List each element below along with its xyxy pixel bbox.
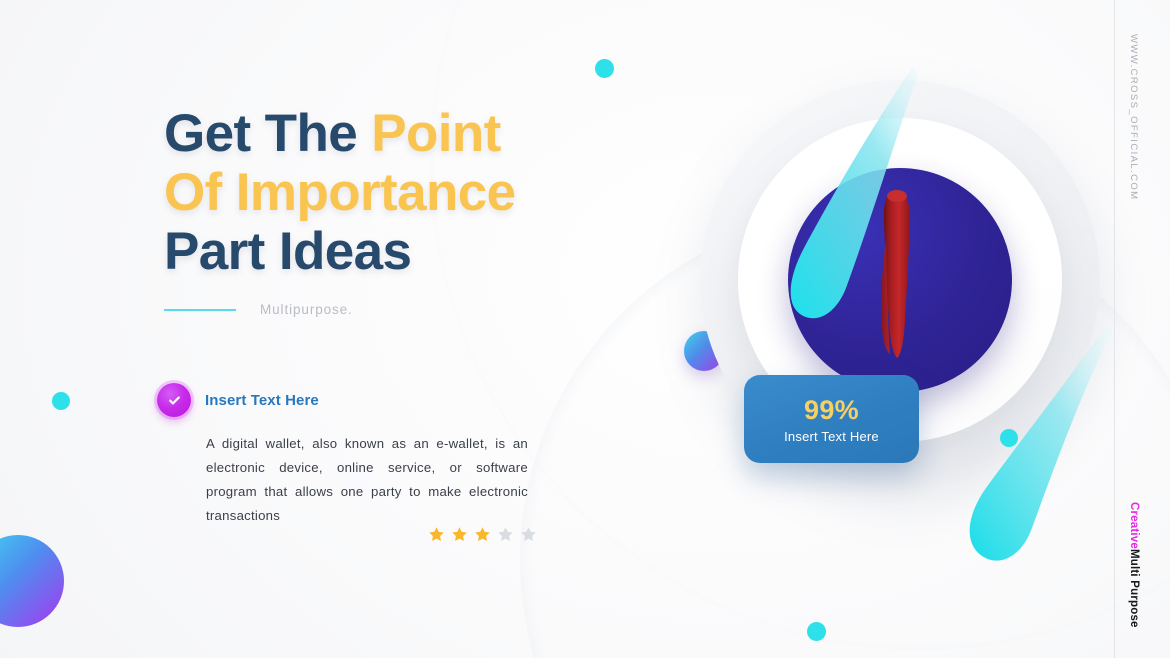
brand-label-accent: Creative <box>1128 502 1140 549</box>
brand-label-rest: Multi Purpose <box>1128 549 1140 628</box>
decor-dot-cyan-left <box>52 392 70 410</box>
website-url: WWW.CROSS_OFFICIAL.COM <box>1128 34 1139 200</box>
decor-dot-cyan-hero <box>1000 429 1018 447</box>
page-title: Get The Point Of Importance Part Ideas <box>164 104 724 281</box>
decor-circle-gradient-bottom-left <box>0 535 64 627</box>
presentation-slide: Get The Point Of Importance Part Ideas M… <box>0 0 1170 658</box>
decor-dot-cyan-top <box>595 59 614 78</box>
star-icon-5 <box>520 526 537 543</box>
star-icon-2 <box>451 526 468 543</box>
feature-title: Insert Text Here <box>205 392 319 409</box>
star-icon-4 <box>497 526 514 543</box>
feature-heading: Insert Text Here <box>157 383 319 417</box>
star-icon-3 <box>474 526 491 543</box>
headline-part-dark-1: Get The <box>164 104 371 163</box>
rail-divider <box>1114 0 1115 658</box>
subtitle-rule <box>164 309 236 311</box>
status-badge <box>428 526 537 543</box>
stat-card-percent: 99% <box>804 395 859 426</box>
headline-line-3: Part Ideas <box>164 222 724 281</box>
headline-line-1: Get The Point <box>164 104 724 163</box>
headline-line-2: Of Importance <box>164 163 724 222</box>
feature-body-text: A digital wallet, also known as an e-wal… <box>206 432 528 528</box>
stat-card-label: Insert Text Here <box>784 429 879 444</box>
brand-label: CreativeMulti Purpose <box>1128 502 1140 628</box>
decor-dot-cyan-bottom <box>807 622 826 641</box>
subtitle-row: Multipurpose. <box>164 302 353 317</box>
subtitle-text: Multipurpose. <box>260 302 353 317</box>
red-3d-object <box>874 188 920 363</box>
check-circle-icon <box>157 383 191 417</box>
stat-card[interactable]: 99% Insert Text Here <box>744 375 919 463</box>
star-icon-1 <box>428 526 445 543</box>
headline-part-accent-1: Point <box>371 104 500 163</box>
hero-core-circle <box>788 168 1012 392</box>
